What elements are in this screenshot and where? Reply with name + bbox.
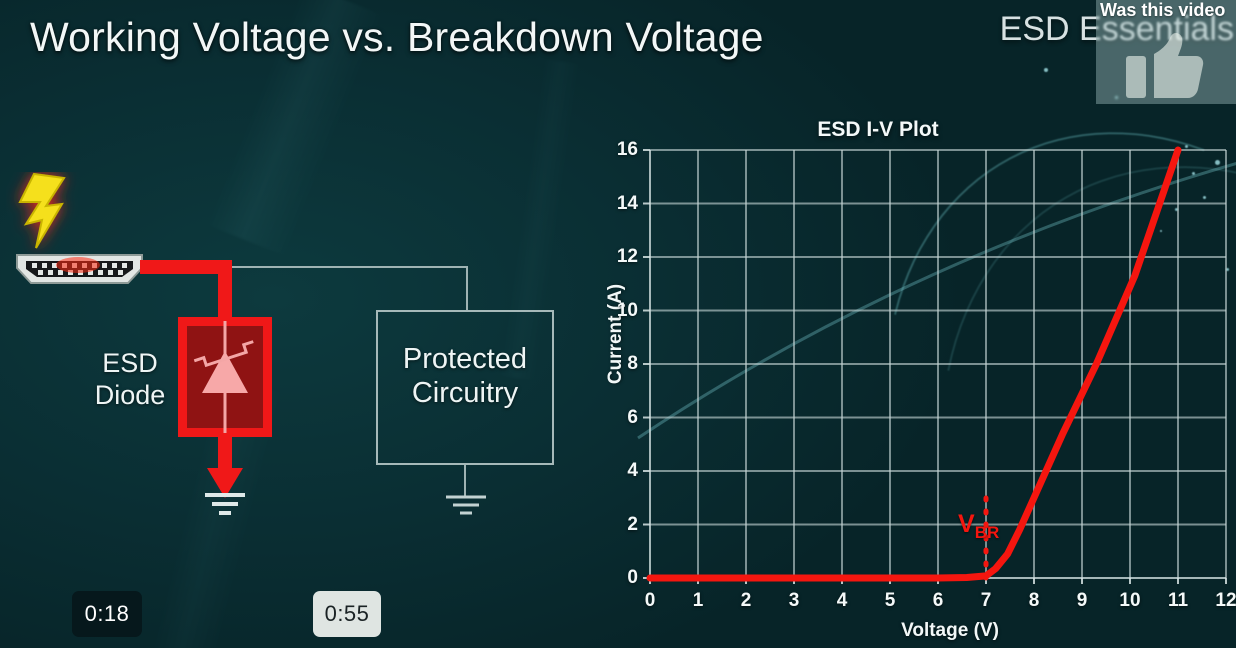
esd-diode-label: ESD Diode (85, 348, 175, 412)
ground-icon (198, 492, 252, 518)
signal-wire-down (466, 266, 468, 312)
protected-label-line2: Circuitry (376, 376, 554, 410)
video-feedback-overlay[interactable]: Was this video (1096, 0, 1236, 104)
thumbs-up-icon[interactable] (1126, 32, 1204, 98)
page-title: Working Voltage vs. Breakdown Voltage (30, 14, 764, 61)
ground-icon (442, 495, 490, 519)
timestamp-badge-start[interactable]: 0:18 (72, 591, 142, 637)
protected-ground-wire (464, 465, 466, 497)
x-axis-label: Voltage (V) (650, 620, 1236, 642)
tvs-zener-diode-icon (178, 317, 272, 437)
overlay-question-text: Was this video (1100, 0, 1236, 21)
protected-circuitry-label: Protected Circuitry (376, 342, 554, 410)
particle (1044, 68, 1048, 72)
esd-path-wire-v (218, 260, 232, 322)
esd-diode-label-line2: Diode (85, 380, 175, 412)
plot-canvas (578, 108, 1236, 608)
vbr-subscript: BR (975, 523, 1000, 542)
protected-label-line1: Protected (376, 342, 554, 376)
breakdown-voltage-label: VBR (958, 510, 999, 543)
signal-wire (225, 266, 468, 268)
esd-diode-label-line1: ESD (85, 348, 175, 380)
timestamp-badge-end[interactable]: 0:55 (313, 591, 381, 637)
iv-plot: ESD I-V Plot Current (A) Voltage (V) 024… (578, 108, 1236, 648)
vbr-symbol: V (958, 510, 975, 538)
video-frame: Working Voltage vs. Breakdown Voltage ES… (0, 0, 1236, 648)
circuit-diagram: ESD Diode Protected Circuitry (0, 170, 600, 570)
hdmi-connector-icon (12, 252, 147, 288)
